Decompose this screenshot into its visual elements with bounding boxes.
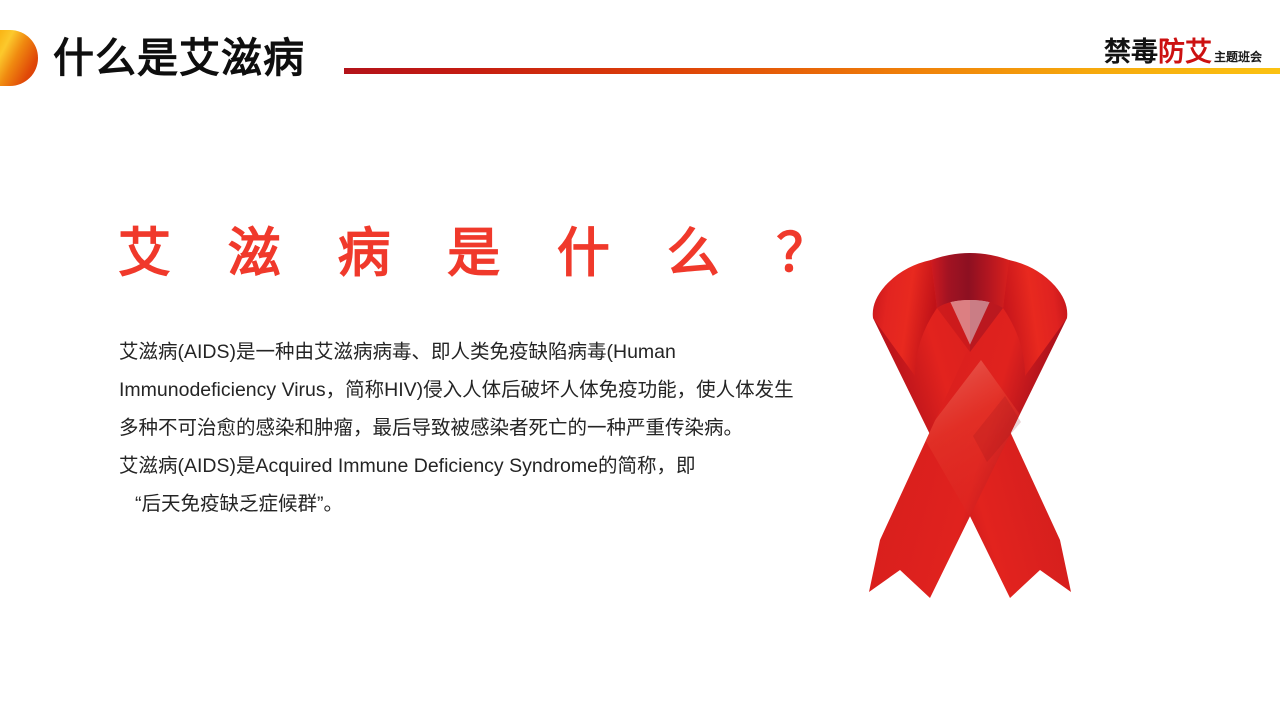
section-headline: 艾 滋 病 是 什 么 ？	[118, 221, 850, 287]
slide-header: 什么是艾滋病 禁毒 防艾 主题班会	[0, 0, 1280, 100]
brand-logo: 禁毒 防艾 主题班会	[1104, 30, 1262, 69]
header-accent-dot-icon	[0, 30, 38, 86]
brand-text-black: 禁毒	[1104, 30, 1158, 69]
aids-red-ribbon-icon	[845, 200, 1095, 620]
body-paragraph-3: “后天免疫缺乏症候群”。	[119, 485, 799, 523]
body-copy: 艾滋病(AIDS)是一种由艾滋病病毒、即人类免疫缺陷病毒(Human Immun…	[119, 333, 799, 523]
body-paragraph-2: 艾滋病(AIDS)是Acquired Immune Deficiency Syn…	[119, 447, 799, 485]
body-paragraph-1: 艾滋病(AIDS)是一种由艾滋病病毒、即人类免疫缺陷病毒(Human Immun…	[119, 333, 799, 447]
page-title: 什么是艾滋病	[53, 30, 305, 86]
brand-text-red: 防艾	[1158, 30, 1212, 69]
brand-subtitle: 主题班会	[1214, 48, 1262, 65]
